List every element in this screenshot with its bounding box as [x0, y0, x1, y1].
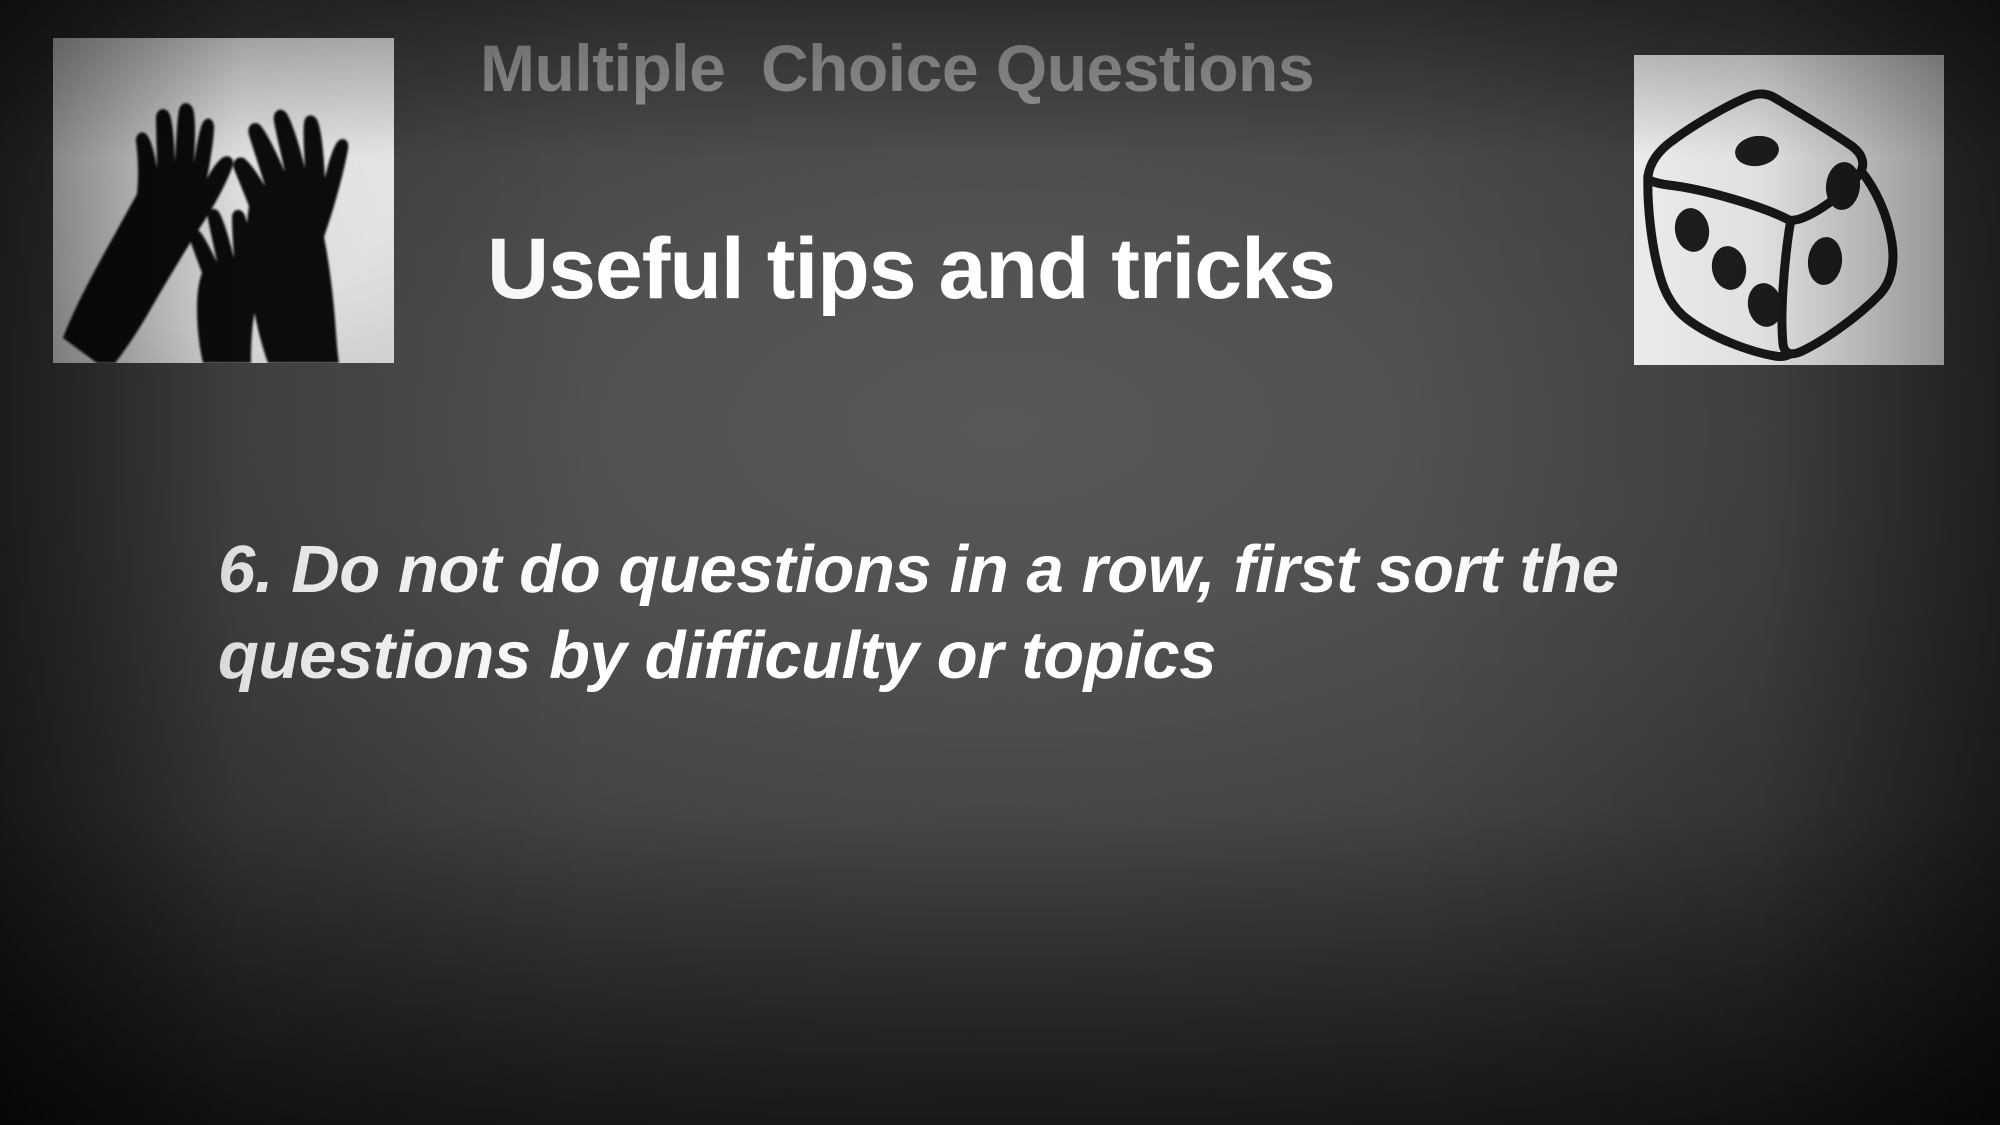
hands-silhouette-image	[53, 38, 394, 363]
dice-line-drawing-image	[1634, 55, 1944, 365]
presentation-slide: Multiple Choice Questions Useful tips an…	[0, 0, 2000, 1125]
slide-body-text: 6. Do not do questions in a row, first s…	[218, 527, 1778, 699]
page-title: Multiple Choice Questions	[480, 32, 1540, 106]
slide-subtitle: Useful tips and tricks	[487, 222, 1587, 317]
